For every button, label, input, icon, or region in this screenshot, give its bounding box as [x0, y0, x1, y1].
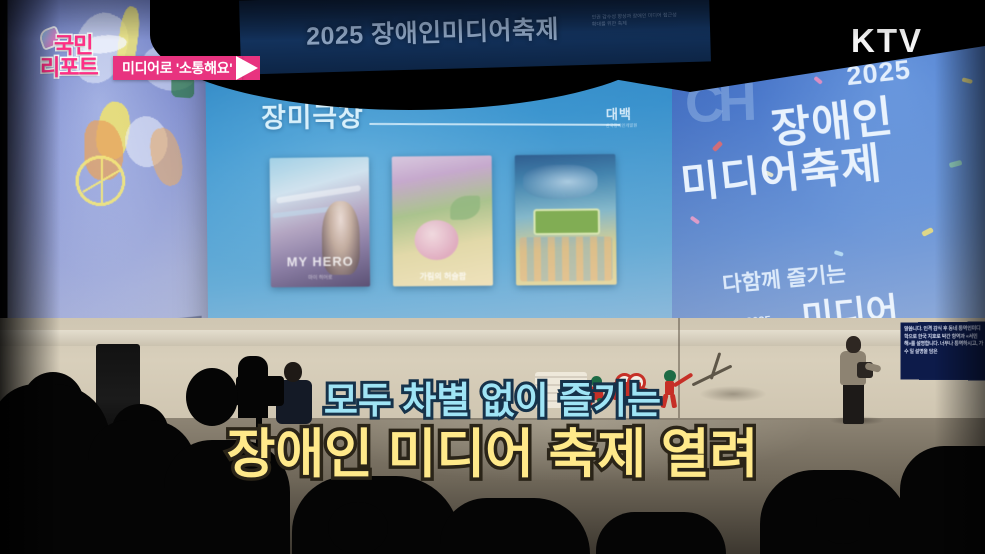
organizer-logo: 대백 한국장애인개발원 [606, 103, 638, 129]
audience-silhouette [816, 498, 870, 544]
segment-banner-label: 미디어로 '소통해요' [122, 58, 232, 78]
video-frame: 장미극장 대백 한국장애인개발원 MY HERO 마이 히어로 가림의 허슬팝 [0, 0, 985, 554]
film-poster [515, 154, 617, 285]
segment-banner: 미디어로 '소통해요' [113, 56, 242, 80]
film-poster-row: MY HERO 마이 히어로 가림의 허슬팝 [270, 154, 662, 288]
segment-banner-arrow-icon [236, 56, 258, 80]
poster-subtitle: 마이 히어로 [271, 274, 370, 282]
venue-banner-note: 인권 감수성 향상과 장애인 미디어 접근성 확대를 위한 축제 [592, 12, 682, 29]
organizer-logo-text: 한국장애인개발원 [606, 123, 637, 129]
slide-divider [369, 123, 620, 126]
audience-silhouette [596, 512, 726, 554]
right-wall-line2: 미디어축제 [677, 129, 885, 212]
poster-title: 가림의 허슬팝 [393, 271, 493, 283]
audience-silhouette [328, 502, 388, 554]
venue-top-banner: 2025 장애인미디어축제 인권 감수성 향상과 장애인 미디어 접근성 확대를… [239, 0, 711, 75]
film-poster: MY HERO 마이 히어로 [270, 157, 371, 287]
channel-logo: KTV [851, 22, 923, 60]
organizer-logo-mark: 대백 [606, 107, 632, 122]
subtitle-block: 모두 차별 없이 즐기는 장애인 미디어 축제 열려 [0, 378, 985, 486]
film-poster: 가림의 허슬팝 [392, 155, 493, 286]
program-logo: 국민 리포트 [40, 28, 122, 78]
subtitle-line-2: 장애인 미디어 축제 열려 [0, 424, 985, 486]
sign-language-caption-monitor: 말씀니다. 인격 감식 후 동네 통역인미디 학으로 한국 지호로 박간 항역과… [900, 322, 985, 381]
caption-monitor-text: 말씀니다. 인격 감식 후 동네 통역인미디 학으로 한국 지호로 박간 항역과… [901, 323, 985, 357]
venue-banner-title: 2025 장애인미디어축제 [306, 10, 560, 53]
program-logo-line2: 리포트 [40, 50, 98, 82]
poster-title: MY HERO [271, 254, 370, 270]
subtitle-line-1: 모두 차별 없이 즐기는 [0, 378, 985, 424]
wheelchair-illustration [76, 155, 126, 206]
